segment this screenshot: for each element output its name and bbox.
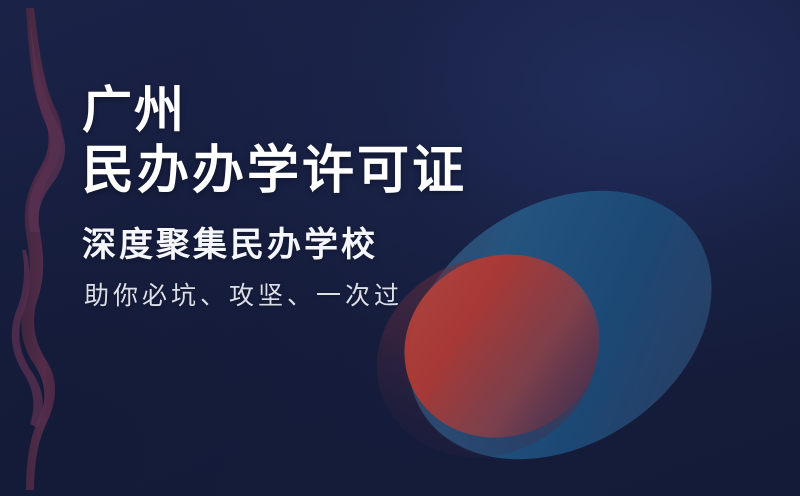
wave-ribbon [12, 8, 65, 490]
promo-banner: 广州 民办办学许可证 深度聚集民办学校 助你必坑、攻坚、一次过 [0, 0, 800, 496]
headline-city: 广州 [82, 84, 642, 137]
banner-content: 广州 民办办学许可证 深度聚集民办学校 助你必坑、攻坚、一次过 [82, 84, 642, 311]
headline-main: 民办办学许可证 [82, 143, 642, 200]
banner-subtitle: 深度聚集民办学校 [82, 226, 642, 265]
banner-tagline: 助你必坑、攻坚、一次过 [84, 281, 642, 311]
